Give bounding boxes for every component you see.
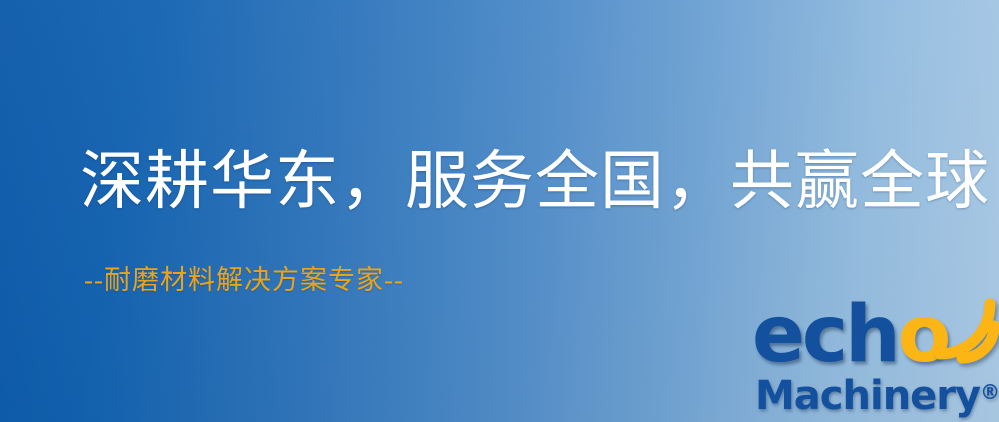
banner-subtitle: --耐磨材料解决方案专家-- bbox=[84, 267, 404, 294]
promo-banner: 深耕华东，服务全国，共赢全球 --耐磨材料解决方案专家-- echo Machi… bbox=[0, 0, 999, 422]
echo-wave-arcs-icon bbox=[928, 292, 999, 370]
banner-headline: 深耕华东，服务全国，共赢全球 bbox=[80, 150, 960, 214]
logo-subtext: Machinery® bbox=[755, 372, 999, 416]
logo-wordmark-prefix: ech bbox=[752, 290, 898, 380]
logo-subtext-label: Machinery bbox=[755, 373, 980, 419]
registered-trademark-icon: ® bbox=[980, 380, 999, 404]
logo-wordmark: echo bbox=[752, 296, 948, 374]
echo-machinery-logo: echo Machinery® bbox=[752, 296, 999, 422]
